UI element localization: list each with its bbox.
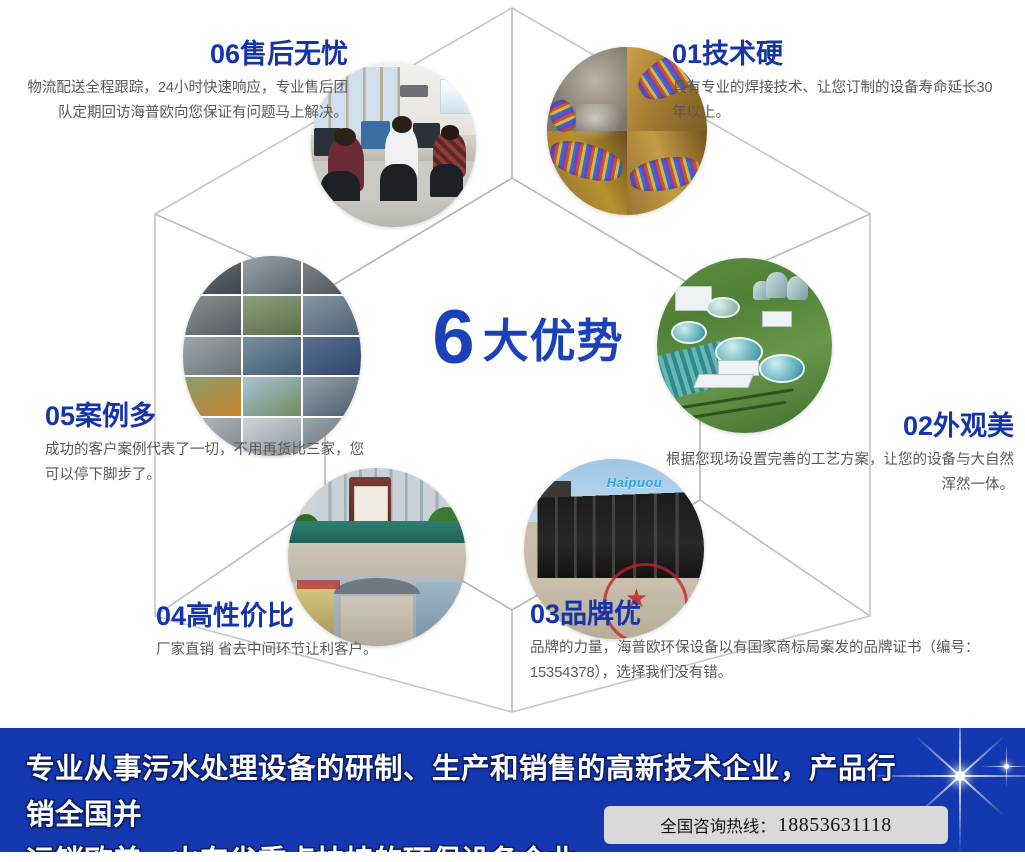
hotline-number: 18853631118 — [778, 814, 892, 837]
feature-04: 04高性价比 厂家直销 省去中间环节让利客户。 — [156, 602, 486, 663]
feature-02-heading: 02外观美 — [652, 412, 1014, 442]
feature-01: 01技术硬 具有专业的焊接技术、让您订制的设备寿命延长30年以上。 — [672, 40, 1002, 126]
feature-05-body: 成功的客户案例代表了一切，不用再货比三家，您可以停下脚步了。 — [45, 438, 365, 489]
feature-05-heading: 05案例多 — [45, 402, 365, 432]
infographic-root: Haipuou ★ — [0, 0, 1025, 862]
feature-02: 02外观美 根据您现场设置完善的工艺方案，让您的设备与大自然浑然一体。 — [652, 412, 1014, 498]
hotline-label: 全国咨询热线： — [660, 813, 776, 837]
feature-01-heading: 01技术硬 — [672, 40, 1002, 70]
feature-03-heading: 03品牌优 — [530, 600, 1020, 630]
feature-03-body: 品牌的力量，海普欧环保设备以有国家商标局案发的品牌证书（编号：15354378）… — [530, 636, 1020, 687]
feature-06-body: 物流配送全程跟踪，24小时快速响应，专业售后团队定期回访海普欧向您保证有问题马上… — [18, 76, 348, 127]
feature-04-heading: 04高性价比 — [156, 602, 486, 632]
feature-06: 06售后无忧 物流配送全程跟踪，24小时快速响应，专业售后团队定期回访海普欧向您… — [18, 40, 348, 126]
aerial-treatment-plant-photo — [657, 258, 832, 433]
feature-05: 05案例多 成功的客户案例代表了一切，不用再货比三家，您可以停下脚步了。 — [45, 402, 365, 488]
center-title: 6 大优势 — [408, 288, 648, 388]
center-suffix: 大优势 — [483, 305, 624, 371]
hotline-badge[interactable]: 全国咨询热线：18853631118 — [604, 806, 948, 844]
feature-06-heading: 06售后无忧 — [18, 40, 348, 70]
feature-04-body: 厂家直销 省去中间环节让利客户。 — [156, 638, 486, 663]
feature-01-body: 具有专业的焊接技术、让您订制的设备寿命延长30年以上。 — [672, 76, 1002, 127]
feature-02-body: 根据您现场设置完善的工艺方案，让您的设备与大自然浑然一体。 — [652, 448, 1014, 499]
feature-03: 03品牌优 品牌的力量，海普欧环保设备以有国家商标局案发的品牌证书（编号：153… — [530, 600, 1020, 686]
center-number: 6 — [432, 300, 472, 376]
